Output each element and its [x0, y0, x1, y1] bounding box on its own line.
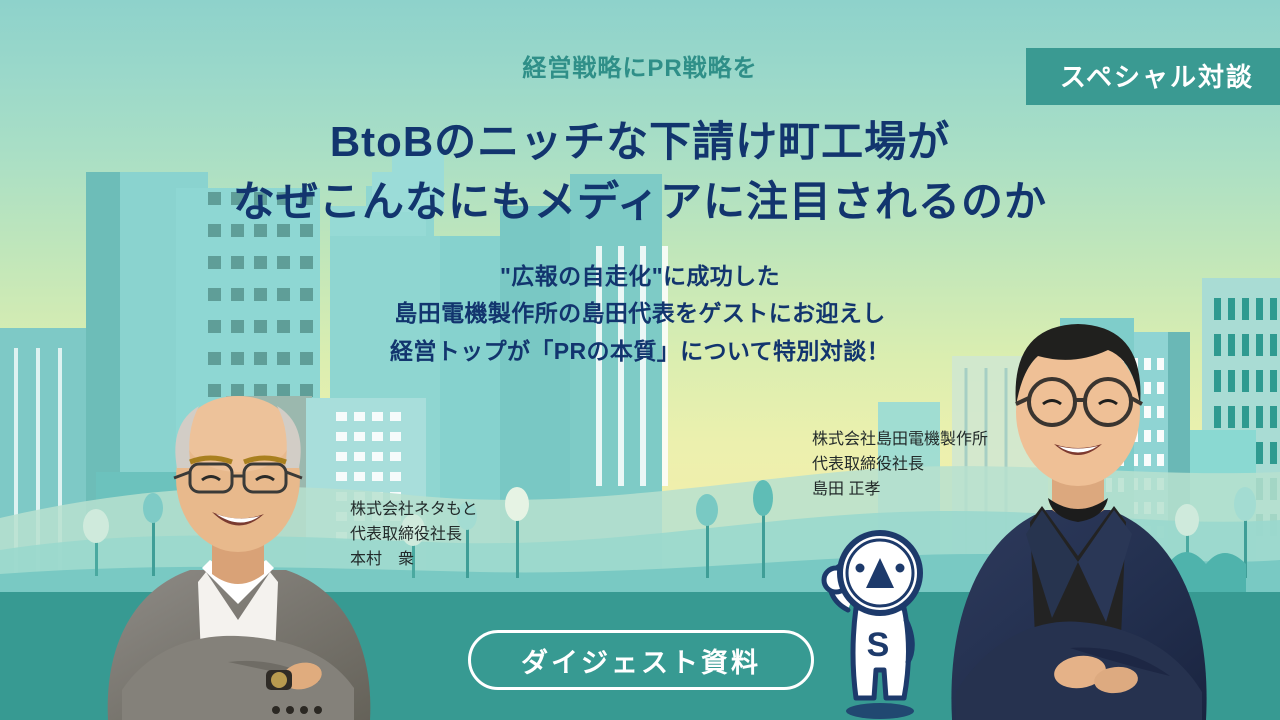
- speaker-right-company: 株式会社島田電機製作所: [812, 428, 988, 453]
- webinar-banner: S 経営戦略にPR戦略を スペシャル対談 BtoBのニッチな下請け町工場が なぜ…: [0, 0, 1280, 720]
- speaker-right-role: 代表取締役社長: [812, 453, 988, 478]
- speaker-caption-left: 株式会社ネタもと 代表取締役社長 本村 衆: [350, 498, 478, 572]
- subtitle-line-3: 経営トップが「PRの本質」について特別対談！: [0, 333, 1280, 370]
- speaker-left-name: 本村 衆: [350, 548, 478, 573]
- subtitle-line-1: "広報の自走化"に成功した: [0, 258, 1280, 295]
- special-talk-badge: スペシャル対談: [1026, 48, 1280, 105]
- banner-content-layer: 経営戦略にPR戦略を スペシャル対談 BtoBのニッチな下請け町工場が なぜこん…: [0, 0, 1280, 720]
- subtitle-block: "広報の自走化"に成功した 島田電機製作所の島田代表をゲストにお迎えし 経営トッ…: [0, 258, 1280, 370]
- speaker-right-name: 島田 正孝: [812, 478, 988, 503]
- digest-material-button[interactable]: ダイジェスト資料: [468, 630, 814, 690]
- subtitle-line-2: 島田電機製作所の島田代表をゲストにお迎えし: [0, 295, 1280, 332]
- title-line-2: なぜこんなにもメディアに注目されるのか: [0, 172, 1280, 232]
- speaker-caption-right: 株式会社島田電機製作所 代表取締役社長 島田 正孝: [812, 428, 988, 502]
- speaker-left-company: 株式会社ネタもと: [350, 498, 478, 523]
- page-title: BtoBのニッチな下請け町工場が なぜこんなにもメディアに注目されるのか: [0, 112, 1280, 231]
- speaker-left-role: 代表取締役社長: [350, 523, 478, 548]
- title-line-1: BtoBのニッチな下請け町工場が: [0, 112, 1280, 172]
